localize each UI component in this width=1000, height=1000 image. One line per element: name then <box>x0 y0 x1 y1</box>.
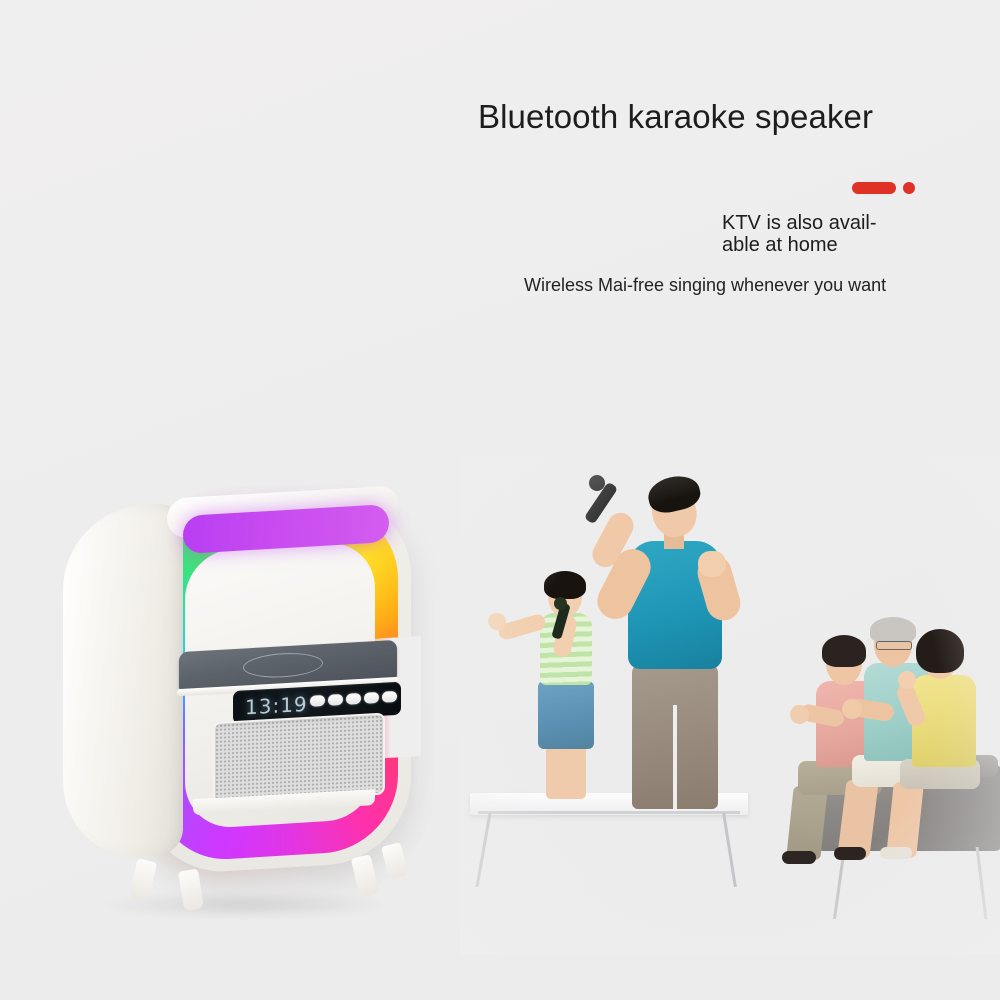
previous-track-button[interactable] <box>346 693 361 705</box>
platform-rail <box>478 811 740 814</box>
boy-hair <box>544 571 586 599</box>
man-right-hand <box>698 551 726 577</box>
woman-hand <box>898 671 916 689</box>
subheadline-line-2: able at home <box>722 234 922 256</box>
speaker-foot <box>351 854 379 897</box>
accent-marker <box>852 182 915 194</box>
speaker-foot <box>381 842 409 880</box>
mode-button[interactable] <box>328 694 343 706</box>
microphone-head-icon <box>554 597 567 610</box>
speaker-console: 13:19 <box>175 640 401 803</box>
microphone-head-icon <box>589 475 605 491</box>
power-button[interactable] <box>310 695 325 707</box>
tagline: Wireless Mai-free singing whenever you w… <box>524 275 886 296</box>
boy-left-hand <box>488 613 506 630</box>
product-image: 13:19 <box>55 488 430 933</box>
subheadline: KTV is also avail- able at home <box>722 212 922 256</box>
grandmother-hair <box>822 635 866 667</box>
grandfather-shoe <box>834 847 866 860</box>
lifestyle-photo <box>460 455 1000 955</box>
boy-shorts <box>538 681 594 749</box>
grandmother-hand <box>790 705 809 724</box>
woman-hair <box>916 629 964 673</box>
glasses-icon <box>876 641 912 650</box>
boy-legs <box>546 745 586 799</box>
sofa-leg <box>976 847 988 919</box>
control-button-row[interactable] <box>310 691 397 707</box>
subheadline-line-1: KTV is also avail- <box>722 212 922 234</box>
speaker-left-body <box>63 502 183 861</box>
grandfather-hand <box>842 699 862 719</box>
clock-time-value: 13:19 <box>245 692 308 720</box>
next-track-button[interactable] <box>382 691 397 703</box>
man-leg-split <box>673 705 677 809</box>
accent-bar-icon <box>852 182 896 194</box>
banner-canvas: Bluetooth karaoke speaker KTV is also av… <box>0 0 1000 1000</box>
charging-coil-icon <box>243 651 323 679</box>
grandfather-hair <box>870 617 916 643</box>
page-title: Bluetooth karaoke speaker <box>478 98 873 136</box>
accent-dot-icon <box>903 182 915 194</box>
play-pause-button[interactable] <box>364 692 379 704</box>
grandmother-shoe <box>782 851 816 864</box>
platform-leg <box>475 813 491 887</box>
woman-shoe <box>880 847 912 859</box>
platform-leg <box>722 813 737 887</box>
